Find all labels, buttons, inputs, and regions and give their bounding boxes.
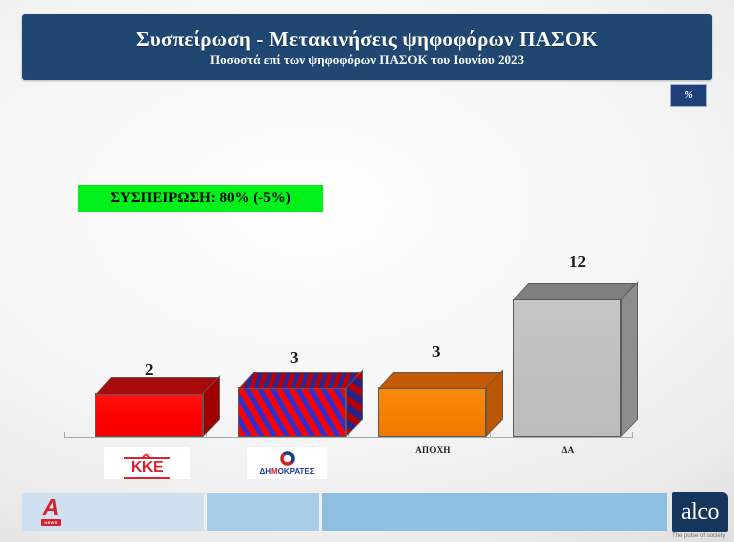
- bar-apoxi-front: [378, 387, 486, 437]
- cat-logo-dimokrates: ΔΗΜΟΚΡΑΤΕΣ: [247, 447, 327, 479]
- dimokrates-word-mid: Μ: [271, 467, 278, 476]
- bar-value-dimokrates: 3: [290, 348, 299, 368]
- bar-dimokrates: [238, 372, 363, 437]
- footer: A NEWS alco The pulse of society: [0, 493, 734, 542]
- dimokrates-word-lead: ΔΗ: [259, 467, 271, 476]
- slide-canvas: Συσπείρωση - Μετακινήσεις ψηφοφόρων ΠΑΣΟ…: [0, 0, 734, 542]
- kke-rule-bottom: [124, 477, 170, 479]
- dimokrates-emblem-icon: [280, 451, 295, 466]
- bar-da-top: [513, 283, 636, 300]
- bar-da: [513, 283, 638, 437]
- hammer-sickle-icon: [140, 448, 154, 456]
- a-news-letter: A: [43, 498, 60, 518]
- bar-value-apoxi: 3: [432, 342, 441, 362]
- axis-cap-left: [64, 432, 65, 438]
- hammer-sickle-svg: [140, 452, 154, 460]
- cat-logo-kke: KKE: [104, 447, 190, 479]
- footer-bar-3: [207, 493, 319, 531]
- bar-dimokrates-front: [238, 387, 346, 437]
- alco-wordmark: alco: [681, 500, 719, 524]
- bar-apoxi-top: [378, 372, 501, 389]
- kke-wordmark: KKE: [131, 460, 163, 476]
- bar-kke-top: [95, 377, 219, 395]
- dimokrates-wordmark: ΔΗΜΟΚΡΑΤΕΣ: [259, 468, 314, 476]
- bar-chart: 2 3 3 12 ΑΠΟΧΗ ΔΑ: [0, 0, 734, 542]
- bar-dimokrates-top: [238, 372, 361, 389]
- a-news-logo: A NEWS: [38, 496, 64, 528]
- bar-apoxi: [378, 372, 503, 437]
- alco-logo: alco: [672, 492, 728, 532]
- footer-bar-4: [322, 493, 667, 531]
- bar-kke: [95, 377, 220, 437]
- bar-value-da: 12: [569, 252, 586, 272]
- bar-da-side: [621, 281, 638, 437]
- dimokrates-ring-svg: [280, 451, 295, 466]
- kke-logo: KKE: [124, 448, 170, 479]
- bar-kke-front: [95, 393, 203, 437]
- dimokrates-word-tail: ΟΚΡΑΤΕΣ: [278, 467, 315, 476]
- bar-da-front: [513, 299, 621, 437]
- a-news-badge: NEWS: [41, 519, 60, 526]
- alco-tagline: The pulse of society: [672, 533, 732, 539]
- cat-label-apoxi: ΑΠΟΧΗ: [378, 445, 488, 455]
- dimokrates-logo: ΔΗΜΟΚΡΑΤΕΣ: [259, 451, 314, 476]
- footer-bar-2: [90, 493, 204, 531]
- cat-label-da: ΔΑ: [513, 445, 623, 455]
- bar-value-kke: 2: [145, 360, 154, 380]
